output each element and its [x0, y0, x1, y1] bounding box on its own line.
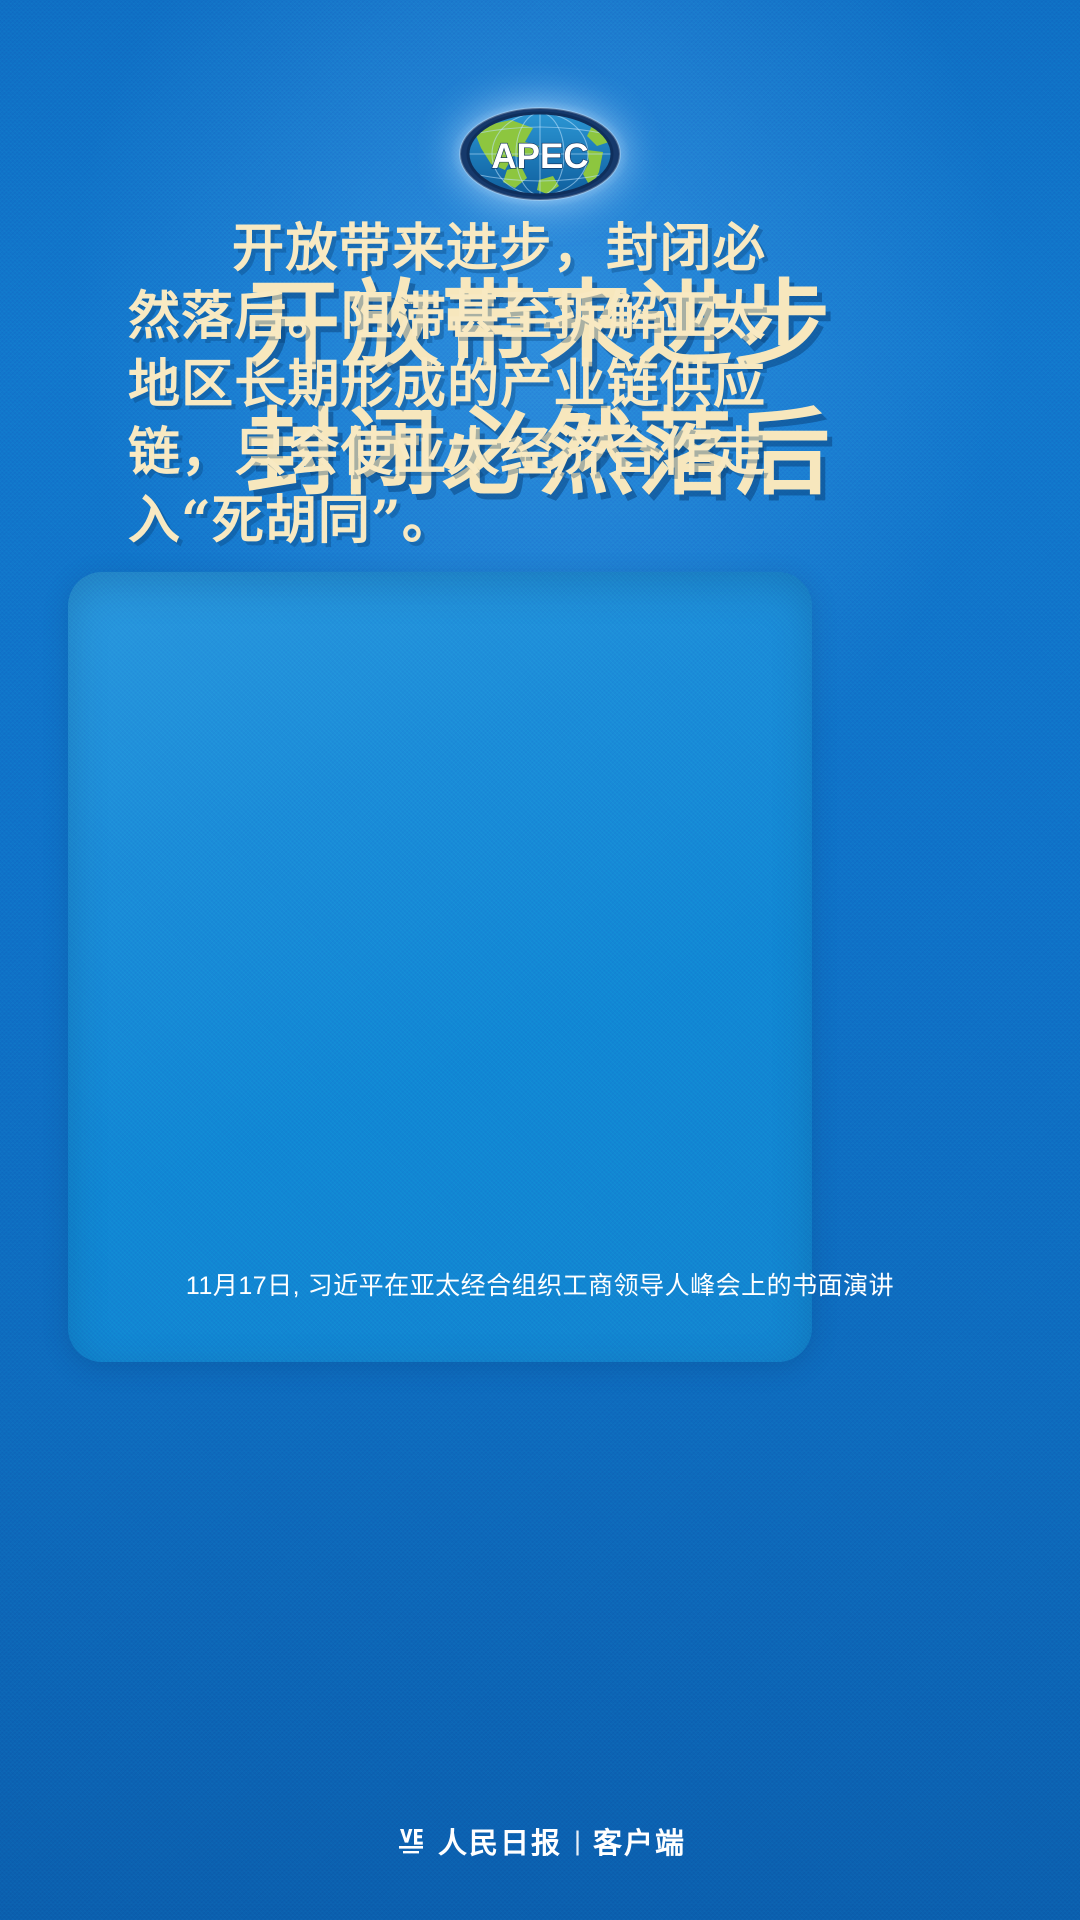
footer-brand: 人民日报 | 客户端 — [0, 1820, 1080, 1862]
footer-separator: | — [574, 1826, 581, 1857]
quote-text: 开放带来进步，封闭必然落后。阻滞甚至拆解亚太地区长期形成的产业链供应链，只会使亚… — [128, 215, 766, 555]
poster-root: APEC 开放带来进步 封闭必然落后 开放带来进步，封闭必然落后。阻滞甚至拆解亚… — [0, 0, 1080, 1920]
peoples-daily-client-label: 客户端 — [593, 1820, 686, 1862]
peoples-daily-name: 人民日报 — [438, 1820, 562, 1862]
quote-card — [68, 572, 812, 1362]
apec-logo-text: APEC — [491, 137, 588, 176]
logo-container: APEC — [0, 98, 1080, 210]
peoples-daily-logo-icon — [394, 1824, 428, 1858]
attribution-caption: 11月17日, 习近平在亚太经合组织工商领导人峰会上的书面演讲 — [0, 1269, 1080, 1303]
apec-logo: APEC — [447, 98, 633, 210]
